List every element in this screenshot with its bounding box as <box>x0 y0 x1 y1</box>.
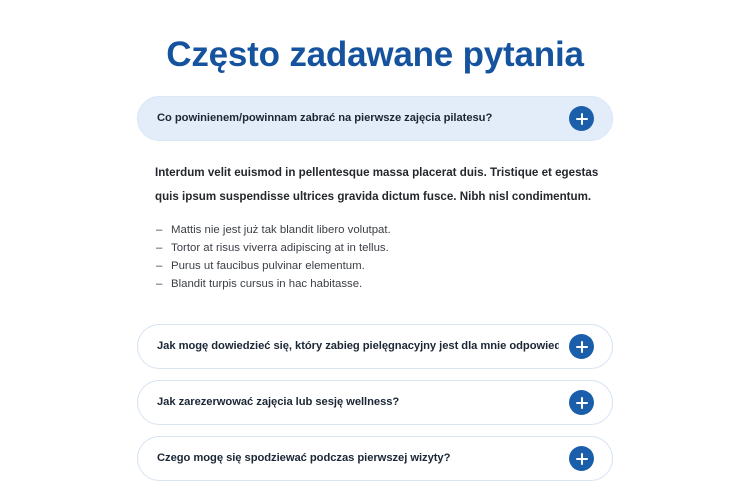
item-gap <box>137 369 613 380</box>
list-item-label: Mattis nie jest już tak blandit libero v… <box>171 224 391 236</box>
bullet-dash-marker: – <box>156 275 162 293</box>
list-item-label: Blandit turpis cursus in hac habitasse. <box>171 278 362 290</box>
bullet-dash-marker: – <box>156 221 162 239</box>
list-item: – Purus ut faucibus pulvinar elementum. <box>155 257 603 275</box>
faq-accordion: Co powinienem/powinnam zabrać na pierwsz… <box>137 96 613 481</box>
faq-item: Co powinienem/powinnam zabrać na pierwsz… <box>137 96 613 293</box>
item-gap <box>137 425 613 436</box>
plus-icon[interactable] <box>569 334 594 359</box>
faq-header-2[interactable]: Jak zarezerwować zajęcia lub sesję welln… <box>137 380 613 425</box>
list-item-label: Purus ut faucibus pulvinar elementum. <box>171 260 365 272</box>
faq-page: Często zadawane pytania Co powinienem/po… <box>0 0 750 503</box>
list-item: – Tortor at risus viverra adipiscing at … <box>155 239 603 257</box>
faq-header-1[interactable]: Jak mogę dowiedzieć się, który zabieg pi… <box>137 324 613 369</box>
faq-answer-paragraph: Interdum velit euismod in pellentesque m… <box>155 161 601 209</box>
plus-icon[interactable] <box>569 446 594 471</box>
bullet-dash-marker: – <box>156 257 162 275</box>
faq-item: Jak zarezerwować zajęcia lub sesję welln… <box>137 380 613 425</box>
faq-answer-panel: Interdum velit euismod in pellentesque m… <box>137 141 613 293</box>
faq-question-label: Co powinienem/powinnam zabrać na pierwsz… <box>157 111 559 126</box>
faq-header-3[interactable]: Czego mogę się spodziewać podczas pierws… <box>137 436 613 481</box>
faq-question-label: Jak zarezerwować zajęcia lub sesję welln… <box>157 395 559 410</box>
bullet-dash-marker: – <box>156 239 162 257</box>
section-spacer <box>137 293 613 324</box>
plus-icon[interactable] <box>569 390 594 415</box>
plus-icon[interactable] <box>569 106 594 131</box>
list-item: – Blandit turpis cursus in hac habitasse… <box>155 275 603 293</box>
faq-item: Jak mogę dowiedzieć się, który zabieg pi… <box>137 324 613 369</box>
list-item-label: Tortor at risus viverra adipiscing at in… <box>171 242 389 254</box>
faq-question-label: Jak mogę dowiedzieć się, który zabieg pi… <box>157 339 559 354</box>
faq-answer-bullet-list: – Mattis nie jest już tak blandit libero… <box>155 221 603 293</box>
faq-question-label: Czego mogę się spodziewać podczas pierws… <box>157 451 559 466</box>
faq-item: Czego mogę się spodziewać podczas pierws… <box>137 436 613 481</box>
faq-header-0[interactable]: Co powinienem/powinnam zabrać na pierwsz… <box>137 96 613 141</box>
page-title: Często zadawane pytania <box>0 33 750 77</box>
list-item: – Mattis nie jest już tak blandit libero… <box>155 221 603 239</box>
